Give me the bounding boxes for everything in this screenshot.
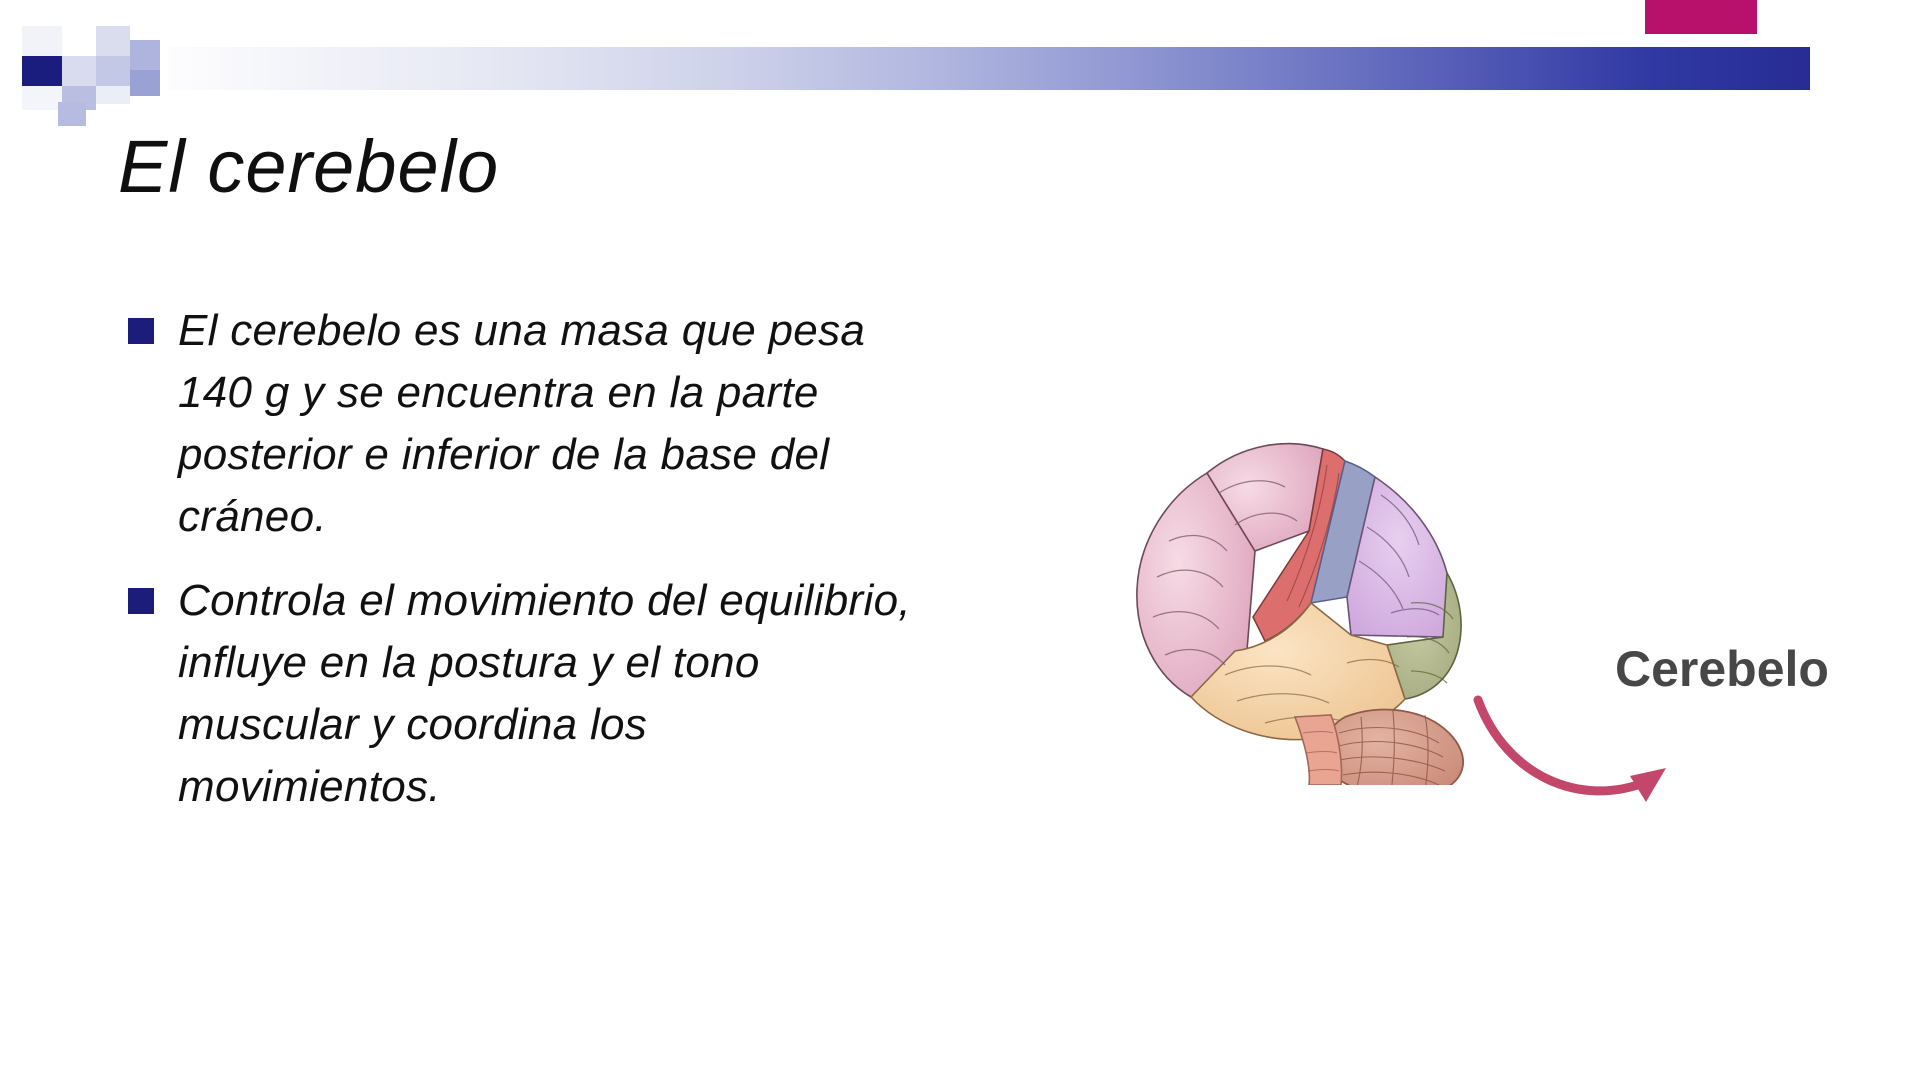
deco-square	[96, 86, 130, 104]
bullet-text: Controla el movimiento del equilibrio, i…	[178, 570, 918, 818]
page-title: El cerebelo	[118, 124, 499, 209]
deco-square	[96, 26, 130, 56]
brain-illustration	[1095, 345, 1525, 785]
deco-square	[130, 40, 160, 70]
bullet-square-icon	[128, 318, 154, 344]
bullet-text: El cerebelo es una masa que pesa 140 g y…	[178, 300, 918, 548]
deco-square	[96, 56, 130, 86]
slide-root: El cerebelo El cerebelo es una masa que …	[0, 0, 1920, 1080]
callout-label-cerebelo: Cerebelo	[1615, 640, 1829, 698]
list-item: El cerebelo es una masa que pesa 140 g y…	[128, 300, 918, 548]
deco-square	[62, 56, 96, 86]
deco-square	[22, 86, 62, 110]
region-brainstem	[1295, 715, 1342, 785]
header-checker-decoration	[0, 24, 180, 110]
deco-square	[22, 26, 62, 56]
callout-arrow	[1470, 690, 1740, 840]
deco-square	[58, 102, 86, 126]
deco-square	[130, 70, 160, 96]
bullet-square-icon	[128, 588, 154, 614]
list-item: Controla el movimiento del equilibrio, i…	[128, 570, 918, 818]
header-accent-block	[1645, 0, 1757, 34]
bullet-list: El cerebelo es una masa que pesa 140 g y…	[128, 300, 918, 840]
deco-square	[22, 56, 62, 86]
arrow-curve	[1478, 700, 1646, 791]
header-gradient-bar	[168, 47, 1810, 90]
